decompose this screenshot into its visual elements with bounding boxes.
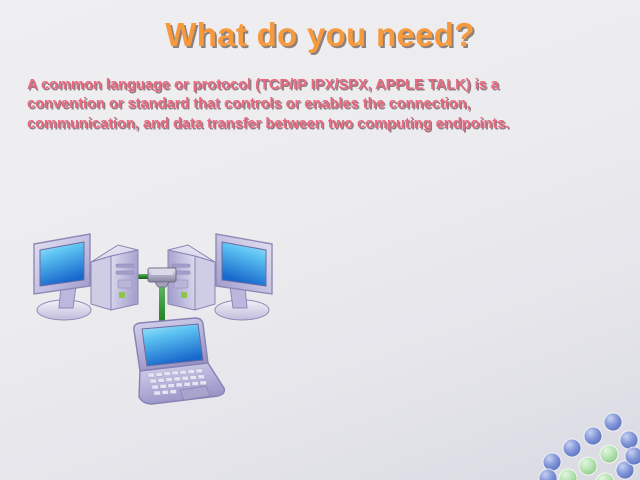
- desktop-computer-right: [168, 234, 272, 320]
- sphere-cluster-decoration: [530, 400, 640, 480]
- computer-tower-left: [91, 245, 138, 310]
- desktop-computer-left: [34, 234, 138, 320]
- body-line-1: A common language or protocol (TCP/IP IP…: [27, 76, 575, 95]
- computer-monitor-left: [34, 234, 90, 294]
- body-line-2: convention or standard that controls or …: [27, 95, 575, 114]
- body-paragraph: A common language or protocol (TCP/IP IP…: [27, 76, 575, 134]
- page-title: What do you need?: [0, 16, 640, 54]
- body-line-3: communication, and data transfer between…: [27, 115, 575, 134]
- network-diagram-graphic: [28, 228, 278, 428]
- laptop-computer: [134, 318, 225, 404]
- computer-monitor-right: [216, 234, 272, 294]
- presentation-slide: What do you need? A common language or p…: [0, 0, 640, 480]
